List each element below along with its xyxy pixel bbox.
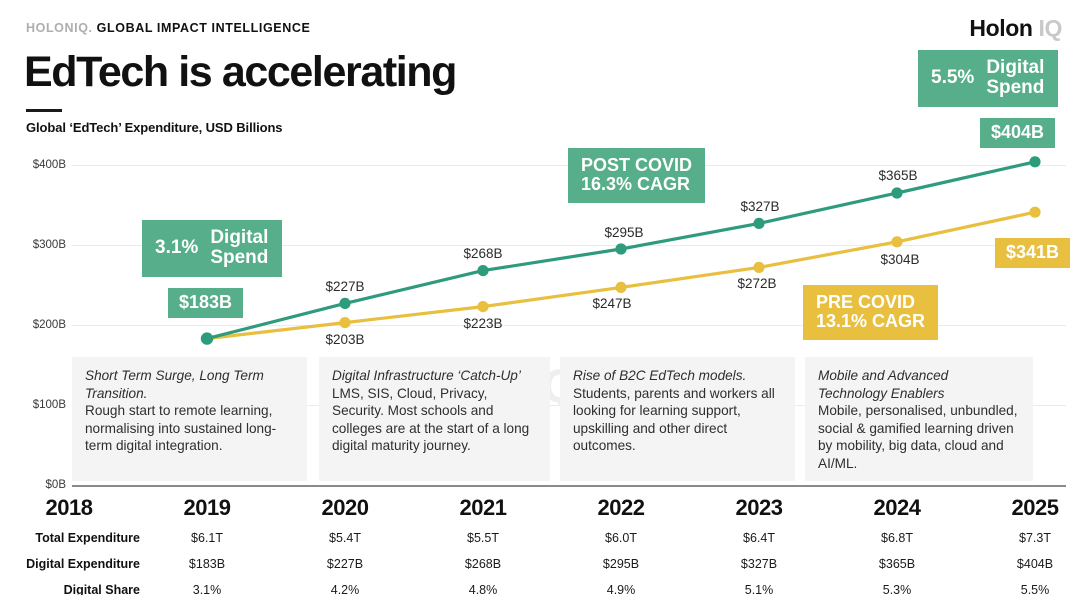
datapoint-pre-2025 bbox=[1029, 207, 1040, 218]
badge-digital-spend-2025-line1: Digital bbox=[986, 57, 1044, 78]
datapoint-post-2020 bbox=[339, 298, 350, 309]
slide-root: HOLONIQ. GLOBAL IMPACT INTELLIGENCE Holo… bbox=[0, 0, 1080, 595]
title-rule bbox=[26, 109, 62, 112]
badge-digital-spend-2019-label: Digital Spend bbox=[210, 228, 268, 268]
cell-share-2022: 4.9% bbox=[607, 583, 636, 595]
datapoint-origin-2019 bbox=[201, 332, 213, 344]
badge-value-183b: $183B bbox=[168, 288, 243, 318]
label-post-2022: $295B bbox=[604, 225, 643, 240]
badge-value-404b: $404B bbox=[980, 118, 1055, 148]
badge-digital-spend-2025-pct: 5.5% bbox=[931, 68, 974, 88]
cell-total-2023: $6.4T bbox=[743, 531, 775, 545]
cell-share-2019: 3.1% bbox=[193, 583, 222, 595]
label-pre-2022: $247B bbox=[592, 296, 631, 311]
badge-pre-covid-line2: 13.1% CAGR bbox=[816, 312, 925, 331]
note-box-1-body: Rough start to remote learning, normalis… bbox=[85, 403, 276, 453]
badge-digital-spend-2019: 3.1% Digital Spend bbox=[142, 220, 282, 277]
datapoint-pre-2024 bbox=[891, 236, 902, 247]
holoniq-logo: Holon IQ bbox=[969, 15, 1062, 42]
label-post-2021: $268B bbox=[463, 246, 502, 261]
note-box-2-heading: Digital Infrastructure ‘Catch-Up’ bbox=[332, 367, 538, 385]
cell-share-2023: 5.1% bbox=[745, 583, 774, 595]
note-box-2: Digital Infrastructure ‘Catch-Up’ LMS, S… bbox=[319, 357, 550, 481]
table-year-2019: 2019 bbox=[184, 495, 231, 521]
table-row-label-digital-share: Digital Share bbox=[0, 583, 140, 595]
note-box-1-heading: Short Term Surge, Long Term Transition. bbox=[85, 367, 295, 402]
cell-digital-2021: $268B bbox=[465, 557, 501, 571]
cell-total-2022: $6.0T bbox=[605, 531, 637, 545]
datapoint-post-2021 bbox=[477, 265, 488, 276]
table-row-label-total-expenditure: Total Expenditure bbox=[0, 531, 140, 545]
logo-iq-text: IQ bbox=[1039, 15, 1062, 41]
kicker-brand: HOLONIQ. bbox=[26, 21, 93, 35]
cell-share-2021: 4.8% bbox=[469, 583, 498, 595]
datapoint-pre-2022 bbox=[615, 282, 626, 293]
cell-total-2019: $6.1T bbox=[191, 531, 223, 545]
table-year-2023: 2023 bbox=[736, 495, 783, 521]
cell-share-2024: 5.3% bbox=[883, 583, 912, 595]
cell-share-2020: 4.2% bbox=[331, 583, 360, 595]
cell-total-2020: $5.4T bbox=[329, 531, 361, 545]
cell-total-2025: $7.3T bbox=[1019, 531, 1051, 545]
datapoint-pre-2023 bbox=[753, 262, 764, 273]
note-box-4-body: Mobile, personalised, unbundled, social … bbox=[818, 403, 1018, 471]
badge-digital-spend-2025-label: Digital Spend bbox=[986, 58, 1044, 98]
label-pre-2023: $272B bbox=[737, 276, 776, 291]
badge-post-covid-line2: 16.3% CAGR bbox=[581, 175, 690, 194]
datapoint-post-2024 bbox=[891, 187, 902, 198]
badge-digital-spend-2019-line2: Spend bbox=[210, 247, 268, 268]
page-title: EdTech is accelerating bbox=[24, 48, 456, 97]
badge-pre-covid-line1: PRE COVID bbox=[816, 293, 915, 312]
badge-post-covid-line1: POST COVID bbox=[581, 156, 692, 175]
cell-total-2024: $6.8T bbox=[881, 531, 913, 545]
label-post-2024: $365B bbox=[878, 168, 917, 183]
cell-digital-2025: $404B bbox=[1017, 557, 1053, 571]
note-box-2-body: LMS, SIS, Cloud, Privacy, Security. Most… bbox=[332, 386, 529, 454]
badge-digital-spend-2025: 5.5% Digital Spend bbox=[918, 50, 1058, 107]
label-pre-2020: $203B bbox=[325, 332, 364, 347]
table-year-2020: 2020 bbox=[322, 495, 369, 521]
badge-digital-spend-2025-line2: Spend bbox=[986, 77, 1044, 98]
badge-digital-spend-2019-pct: 3.1% bbox=[155, 238, 198, 258]
logo-main-text: Holon bbox=[969, 15, 1032, 41]
note-box-4-heading: Mobile and Advanced Technology Enablers bbox=[818, 367, 1021, 402]
cell-digital-2023: $327B bbox=[741, 557, 777, 571]
summary-table: 2018 2019 2020 2021 2022 2023 2024 2025 … bbox=[0, 495, 1080, 595]
table-year-2021: 2021 bbox=[460, 495, 507, 521]
datapoint-post-2023 bbox=[753, 218, 764, 229]
label-post-2023: $327B bbox=[740, 199, 779, 214]
kicker: HOLONIQ. GLOBAL IMPACT INTELLIGENCE bbox=[26, 21, 310, 35]
table-year-2018: 2018 bbox=[46, 495, 93, 521]
note-box-3-heading: Rise of B2C EdTech models. bbox=[573, 367, 783, 385]
datapoint-pre-2020 bbox=[339, 317, 350, 328]
note-box-4: Mobile and Advanced Technology Enablers … bbox=[805, 357, 1033, 481]
table-row-label-digital-expenditure: Digital Expenditure bbox=[0, 557, 140, 571]
cell-digital-2024: $365B bbox=[879, 557, 915, 571]
badge-digital-spend-2019-line1: Digital bbox=[210, 227, 268, 248]
datapoint-post-2022 bbox=[615, 243, 626, 254]
datapoint-pre-2021 bbox=[477, 301, 488, 312]
cell-digital-2019: $183B bbox=[189, 557, 225, 571]
badge-pre-covid-cagr: PRE COVID 13.1% CAGR bbox=[803, 285, 938, 340]
note-box-3: Rise of B2C EdTech models. Students, par… bbox=[560, 357, 795, 481]
note-box-3-body: Students, parents and workers all lookin… bbox=[573, 386, 775, 454]
table-year-2024: 2024 bbox=[874, 495, 921, 521]
badge-post-covid-cagr: POST COVID 16.3% CAGR bbox=[568, 148, 705, 203]
cell-share-2025: 5.5% bbox=[1021, 583, 1050, 595]
datapoint-post-2025 bbox=[1029, 156, 1040, 167]
page-subtitle: Global ‘EdTech’ Expenditure, USD Billion… bbox=[26, 120, 282, 135]
label-post-2020: $227B bbox=[325, 279, 364, 294]
label-pre-2021: $223B bbox=[463, 316, 502, 331]
cell-total-2021: $5.5T bbox=[467, 531, 499, 545]
cell-digital-2020: $227B bbox=[327, 557, 363, 571]
cell-digital-2022: $295B bbox=[603, 557, 639, 571]
kicker-rest: GLOBAL IMPACT INTELLIGENCE bbox=[93, 21, 311, 35]
table-year-2022: 2022 bbox=[598, 495, 645, 521]
table-year-2025: 2025 bbox=[1012, 495, 1059, 521]
note-box-1: Short Term Surge, Long Term Transition. … bbox=[72, 357, 307, 481]
label-pre-2024: $304B bbox=[880, 252, 919, 267]
badge-value-341b: $341B bbox=[995, 238, 1070, 268]
